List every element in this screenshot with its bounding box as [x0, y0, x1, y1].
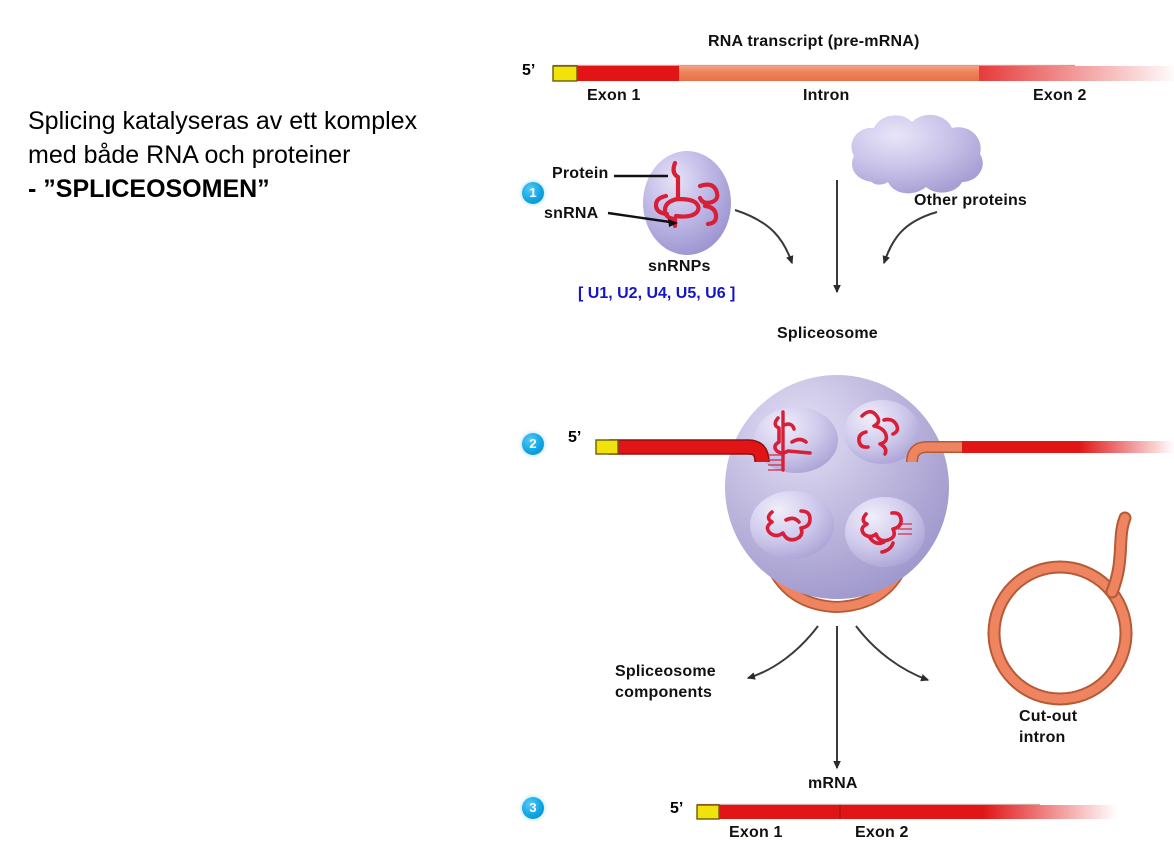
caption-line-3: - ”SPLICEOSOMEN” — [28, 172, 498, 206]
other-proteins-label: Other proteins — [914, 192, 1027, 210]
spliceosome-label: Spliceosome — [777, 325, 878, 343]
slide-caption: Splicing katalyseras av ett komplex med … — [28, 104, 498, 206]
exon2-label-top: Exon 2 — [1033, 87, 1087, 105]
snrnp-components-label: [ U1, U2, U4, U5, U6 ] — [578, 285, 735, 303]
step-marker-2: 2 — [522, 433, 544, 455]
diagram-graphics — [500, 0, 1174, 868]
splicing-diagram: RNA transcript (pre-mRNA) 5’ Exon 1 Intr… — [500, 0, 1174, 868]
spliceosome-components-line1: Spliceosome — [615, 663, 716, 681]
step-marker-1: 1 — [522, 182, 544, 204]
snrnp-particle — [643, 151, 731, 255]
caption-line-1: Splicing katalyseras av ett komplex — [28, 104, 498, 138]
snrna-label: snRNA — [544, 205, 598, 223]
exon1-label-mrna: Exon 1 — [729, 824, 783, 842]
divergence-arrows — [748, 626, 928, 768]
mrna-bar — [697, 804, 1117, 819]
exon2-label-mrna: Exon 2 — [855, 824, 909, 842]
step-marker-3: 3 — [522, 797, 544, 819]
cut-out-intron-line1: Cut-out — [1019, 708, 1077, 726]
five-prime-cap-label-step2: 5’ — [568, 429, 581, 447]
pre-mrna-title: RNA transcript (pre-mRNA) — [708, 33, 920, 51]
pre-mrna-bar — [553, 65, 1174, 81]
snrnps-label: snRNPs — [648, 258, 711, 276]
cut-out-intron-line2: intron — [1019, 729, 1066, 747]
other-proteins-blob — [851, 115, 982, 193]
exon1-label-top: Exon 1 — [587, 87, 641, 105]
protein-label: Protein — [552, 165, 609, 183]
spliceosome-components-line2: components — [615, 684, 712, 702]
caption-line-2: med både RNA och proteiner — [28, 138, 498, 172]
five-prime-cap-label-mrna: 5’ — [670, 800, 683, 818]
convergence-arrows — [735, 180, 937, 292]
intron-label-top: Intron — [803, 87, 850, 105]
five-prime-cap-label-top: 5’ — [522, 62, 535, 80]
mrna-title: mRNA — [808, 775, 858, 793]
cut-out-intron-lariat — [994, 518, 1126, 699]
